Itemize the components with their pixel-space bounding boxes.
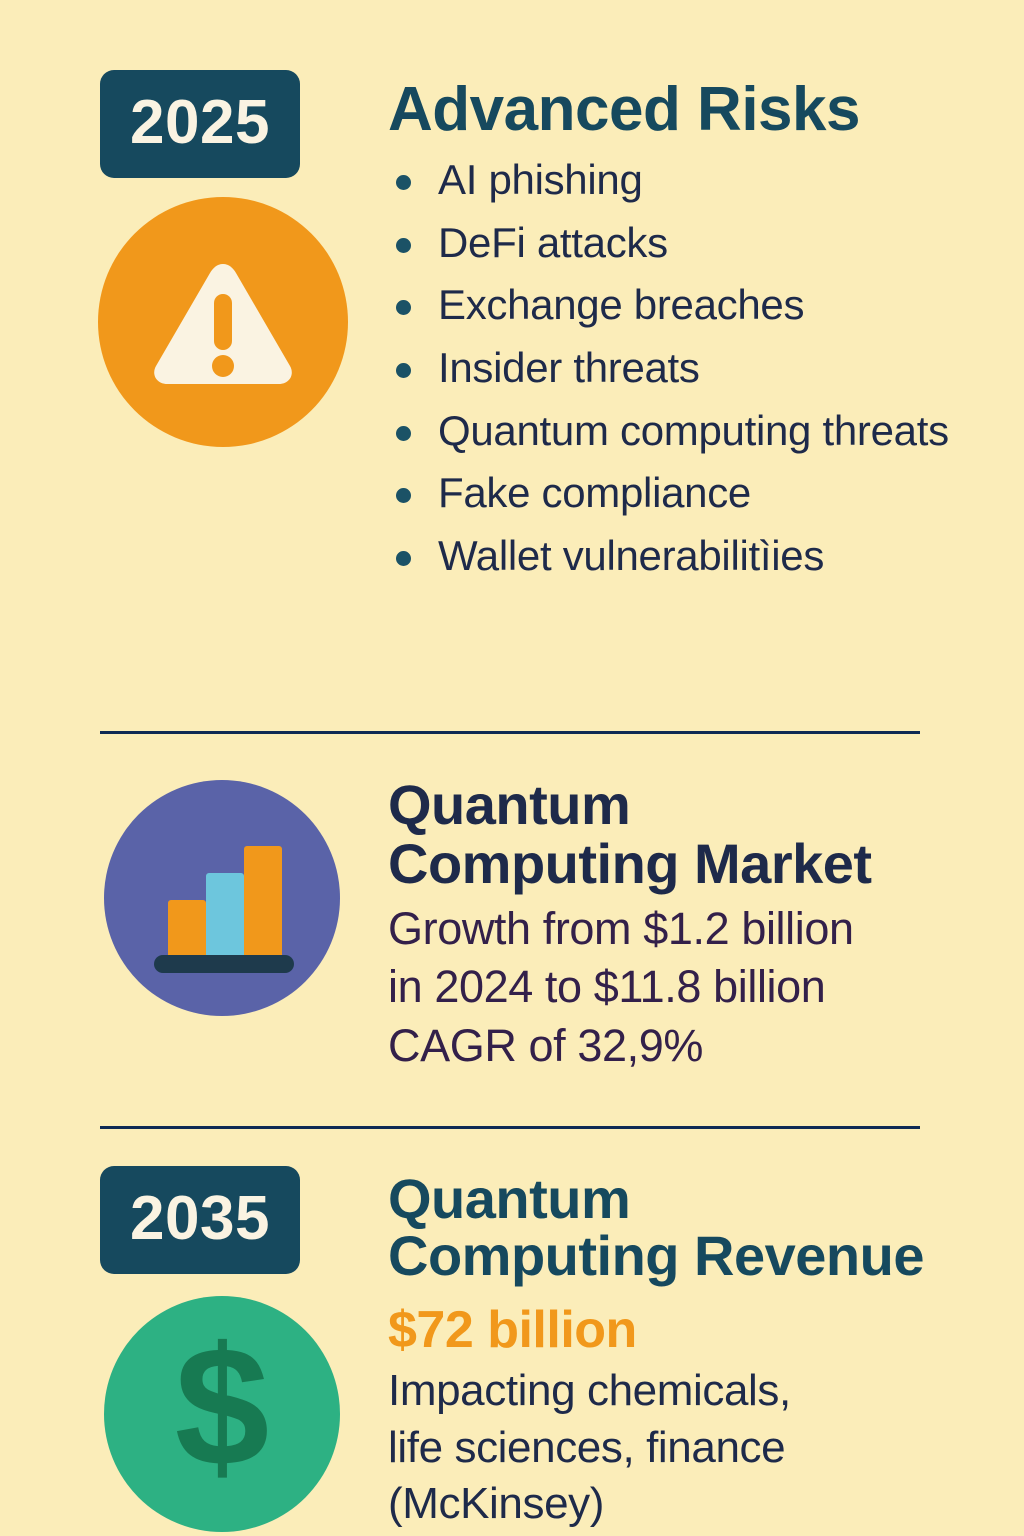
market-body-line2: in 2024 to $11.8 billion: [388, 961, 825, 1012]
dollar-sign-icon: $: [104, 1296, 340, 1532]
risks-text-column: Advanced Risks AI phishing DeFi attacks …: [388, 78, 958, 587]
year-badge-2035: 2035: [100, 1166, 300, 1274]
bar-chart-glyph: [132, 808, 312, 988]
list-item: Exchange breaches: [388, 274, 958, 337]
list-item: Wallet vulnerabilitìies: [388, 525, 958, 588]
revenue-body: Impacting chemicals, life sciences, fina…: [388, 1363, 968, 1532]
market-heading-line2: Computing Market: [388, 832, 872, 895]
bullet-dot-icon: [396, 488, 411, 503]
list-item: Insider threats: [388, 337, 958, 400]
year-badge-2035-label: 2035: [100, 1166, 300, 1274]
bullet-dot-icon: [396, 551, 411, 566]
market-body: Growth from $1.2 billion in 2024 to $11.…: [388, 900, 968, 1076]
year-badge-2025: 2025: [100, 70, 300, 178]
bar-chart-icon-circle: [104, 780, 340, 1016]
list-item: Fake compliance: [388, 462, 958, 525]
revenue-amount: $72 billion: [388, 1302, 968, 1359]
list-item: AI phishing: [388, 149, 958, 212]
dollar-icon-circle: $: [104, 1296, 340, 1532]
list-item-label: Exchange breaches: [438, 281, 804, 328]
list-item-label: Fake compliance: [438, 469, 751, 516]
bullet-dot-icon: [396, 300, 411, 315]
list-item-label: AI phishing: [438, 156, 643, 203]
year-badge-2025-label: 2025: [100, 70, 300, 178]
bullet-dot-icon: [396, 238, 411, 253]
risks-bullet-list: AI phishing DeFi attacks Exchange breach…: [388, 149, 958, 587]
bar-chart-icon: [104, 780, 340, 1016]
market-heading-line1: Quantum: [388, 773, 630, 836]
market-heading: Quantum Computing Market: [388, 775, 968, 894]
list-item-label: Quantum computing threats: [438, 407, 949, 454]
risks-heading: Advanced Risks: [388, 78, 958, 141]
revenue-body-line1: Impacting chemicals,: [388, 1366, 791, 1415]
svg-text:$: $: [175, 1329, 270, 1499]
section-divider: [100, 1126, 920, 1129]
list-item-label: Insider threats: [438, 344, 700, 391]
revenue-text-column: Quantum Computing Revenue $72 billion Im…: [388, 1170, 968, 1532]
warning-icon-circle: [98, 197, 348, 447]
revenue-heading-line1: Quantum: [388, 1167, 630, 1230]
infographic-page: 2025 Advanced Risks AI phishing DeFi att…: [0, 0, 1024, 1536]
warning-triangle-icon: [98, 197, 348, 447]
revenue-heading: Quantum Computing Revenue: [388, 1170, 968, 1284]
market-body-line3: CAGR of 32,9%: [388, 1020, 703, 1071]
warning-triangle-glyph: [143, 242, 303, 402]
section-divider: [100, 731, 920, 734]
market-text-column: Quantum Computing Market Growth from $1.…: [388, 775, 968, 1075]
list-item-label: DeFi attacks: [438, 219, 668, 266]
revenue-body-line2: life sciences, finance: [388, 1423, 785, 1472]
bullet-dot-icon: [396, 426, 411, 441]
revenue-body-line3: (McKinsey): [388, 1479, 604, 1528]
list-item-label: Wallet vulnerabilitìies: [438, 532, 824, 579]
dollar-sign-glyph: $: [137, 1329, 307, 1499]
bullet-dot-icon: [396, 363, 411, 378]
market-body-line1: Growth from $1.2 billion: [388, 903, 854, 954]
bullet-dot-icon: [396, 175, 411, 190]
list-item: Quantum computing threats: [388, 400, 958, 463]
list-item: DeFi attacks: [388, 212, 958, 275]
revenue-heading-line2: Computing Revenue: [388, 1224, 924, 1287]
